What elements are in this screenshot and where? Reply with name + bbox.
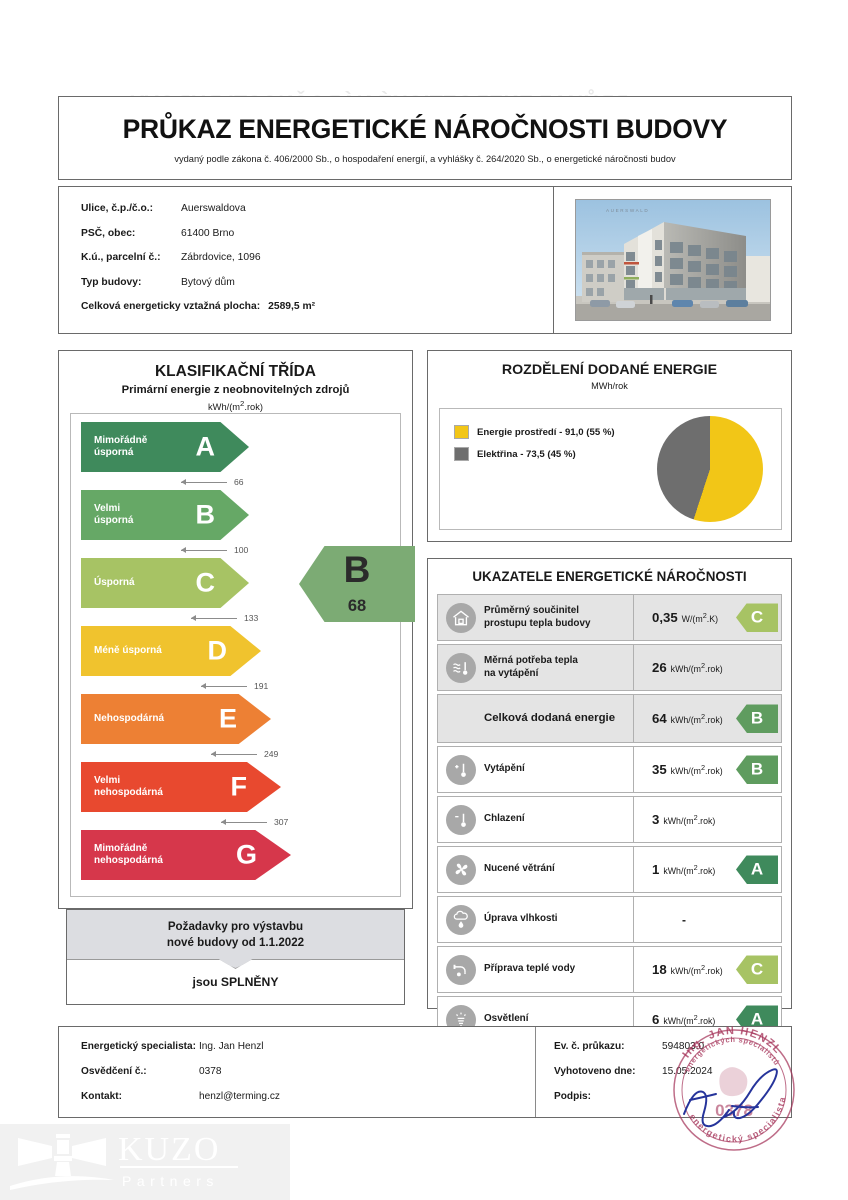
building-render-image: AUERSWALD [576,200,771,321]
indicator-row-cooling: Chlazení 3 kWh/(m2.rok) [437,796,782,843]
indicators-panel: UKAZATELE ENERGETICKÉ NÁROČNOSTI Průměrn… [427,558,792,1009]
legend-swatch [454,425,469,439]
building-photo: AUERSWALD [575,199,771,321]
house-icon [446,603,476,633]
field-value: 61400 Brno [181,228,234,239]
field-label: Ev. č. průkazu: [554,1041,662,1052]
indicator-row-humidity: Úprava vlhkosti - [437,896,782,943]
certificate-page: PRŮKAZ ENERGETICKÉ NÁROČNOSTI BUDOVY hry… [0,0,848,1200]
indicator-value: 6 [652,1012,659,1027]
identity-row-street: Ulice, č.p./č.o.: Auerswaldova [81,203,553,214]
field-value: 2589,5 m² [268,301,315,312]
classification-scale: Mimořádně úsporná A 66 Velmi úsporná B 1… [70,413,401,897]
indicator-row-heating: Vytápění 35 kWh/(m2.rok) B [437,746,782,793]
requirements-heading-line1: Požadavky pro výstavbu [168,919,303,935]
fan-icon [446,855,476,885]
classification-unit: kWh/(m2.rok) [59,399,412,412]
indicator-name: Celková dodaná energie [484,711,633,726]
indicator-value-cell: 18 kWh/(m2.rok) C [633,947,781,992]
indicator-row-heat-transfer: Průměrný součinitel prostupu tepla budov… [437,594,782,641]
document-subtitle: vydaný podle zákona č. 406/2000 Sb., o h… [59,154,791,164]
indicator-name: Průměrný součinitel prostupu tepla budov… [484,605,633,630]
requirements-heading-line2: nové budovy od 1.1.2022 [167,935,304,951]
marker-arrow-icon [201,686,247,687]
scale-band-e: Nehospodárná E [81,694,271,744]
indicator-badge: A [736,855,778,884]
identity-fields: Ulice, č.p./č.o.: Auerswaldova PSČ, obec… [59,187,553,333]
indicator-name: Nucené větrání [484,863,633,876]
field-label: Typ budovy: [81,277,181,288]
indicator-name: Příprava teplé vody [484,963,633,976]
indicator-row-total-energy: Celková dodaná energie 64 kWh/(m2.rok) B [437,694,782,743]
indicator-value-cell: 64 kWh/(m2.rok) B [633,695,781,742]
watermark-brand: KUZO [118,1131,220,1168]
footer-row-contact: Kontakt: henzl@terming.cz [81,1091,535,1102]
footer-row-registration-no: Ev. č. průkazu: 594803.0 [554,1041,791,1052]
indicator-name: Vytápění [484,763,633,776]
field-label: Ulice, č.p./č.o.: [81,203,181,214]
indicator-badge: B [736,755,778,784]
indicator-name: Osvětlení [484,1013,633,1026]
indicator-badge: C [736,603,778,632]
marker-arrow-icon [181,550,227,551]
indicators-title: UKAZATELE ENERGETICKÉ NÁROČNOSTI [428,569,791,584]
indicator-unit: kWh/(m2.rok) [671,712,723,725]
legend-item-electricity: Elektřina - 73,5 (45 %) [454,447,615,461]
indicator-value: 26 [652,660,667,675]
indicator-unit: kWh/(m2.rok) [671,963,723,976]
field-value: Bytový dům [181,277,235,288]
scale-marker-f: 307 [221,817,288,827]
indicator-value: 64 [652,711,667,726]
legend-swatch [454,447,469,461]
humidity-icon [446,905,476,935]
classification-result-badge: B 68 [299,546,415,622]
band-label: Méně úsporná [81,645,162,657]
photo-caption-text: AUERSWALD [606,208,649,213]
scale-marker-c: 133 [191,613,258,623]
marker-value: 307 [274,817,288,827]
scale-marker-e: 249 [211,749,278,759]
scale-band-d: Méně úsporná D [81,626,261,676]
band-letter: C [196,568,216,599]
indicator-icon-cell [438,855,484,885]
marker-value: 133 [244,613,258,623]
footer-specialist-fields: Energetický specialista: Ing. Jan Henzl … [59,1027,535,1117]
field-value: Auerswaldova [181,203,246,214]
watermark-tagline: Partners [122,1173,219,1189]
footer-row-signature: Podpis: [554,1091,791,1102]
field-label: Kontakt: [81,1091,199,1102]
band-letter: G [236,840,257,871]
indicator-unit: kWh/(m2.rok) [663,1013,715,1026]
indicator-icon-cell [438,653,484,683]
band-label: Mimořádně úsporná [81,435,147,459]
kuzo-watermark: KUZO Partners [0,1124,290,1200]
band-label: Velmi nehospodárná [81,775,163,799]
field-label: Vyhotoveno dne: [554,1066,662,1077]
indicator-unit: kWh/(m2.rok) [671,661,723,674]
footer-row-issue-date: Vyhotoveno dne: 15.05.2024 [554,1066,791,1077]
band-label: Nehospodárná [81,713,164,725]
indicator-name: Měrná potřeba tepla na vytápění [484,655,633,680]
indicator-value-cell: 26 kWh/(m2.rok) [633,645,781,690]
pie-title: ROZDĚLENÍ DODANÉ ENERGIE [428,362,791,378]
document-header: PRŮKAZ ENERGETICKÉ NÁROČNOSTI BUDOVY vyd… [58,96,792,180]
identity-row-building-type: Typ budovy: Bytový dům [81,277,553,288]
marker-arrow-icon [191,618,237,619]
indicator-value-cell: 0,35 W/(m2.K) C [633,595,781,640]
indicator-icon-cell [438,755,484,785]
band-label: Mimořádně nehospodárná [81,843,163,867]
band-letter: E [219,704,237,735]
scale-marker-b: 100 [181,545,248,555]
band-letter: D [208,636,228,667]
marker-value: 66 [234,477,244,487]
indicator-icon-cell [438,805,484,835]
footer-block: Energetický specialista: Ing. Jan Henzl … [58,1026,792,1118]
requirements-heading: Požadavky pro výstavbu nové budovy od 1.… [67,910,404,960]
requirements-result-text: jsou SPLNĚNY [192,975,278,989]
indicator-row-heat-demand: Měrná potřeba tepla na vytápění 26 kWh/(… [437,644,782,691]
watermark-background [0,1124,290,1200]
marker-arrow-icon [211,754,257,755]
indicator-value-cell: 3 kWh/(m2.rok) [633,797,781,842]
field-label: Podpis: [554,1091,662,1102]
indicator-unit: W/(m2.K) [682,611,718,624]
indicator-badge: C [736,955,778,984]
scale-band-b: Velmi úsporná B [81,490,249,540]
field-label: Osvědčení č.: [81,1066,199,1077]
footer-row-certificate-no: Osvědčení č.: 0378 [81,1066,535,1077]
field-label: Celková energeticky vztažná plocha: [81,301,260,312]
watermark-graphic: KUZO Partners [0,1124,290,1200]
legend-label: Elektřina - 73,5 (45 %) [477,449,576,460]
indicator-value: - [682,913,686,927]
identity-row-city: PSČ, obec: 61400 Brno [81,228,553,239]
indicator-value: 35 [652,762,667,777]
band-label: Úsporná [81,577,135,589]
identity-row-cadastre: K.ú., parcelní č.: Zábrdovice, 1096 [81,252,553,263]
indicator-value: 18 [652,962,667,977]
marker-arrow-icon [221,822,267,823]
identity-row-floor-area: Celková energeticky vztažná plocha: 2589… [81,301,553,312]
building-photo-cell: AUERSWALD [553,187,791,333]
indicator-value: 1 [652,862,659,877]
field-label: K.ú., parcelní č.: [81,252,181,263]
scale-marker-d: 191 [201,681,268,691]
classification-title: KLASIFIKAČNÍ TŘÍDA [59,363,412,381]
indicator-row-ventilation: Nucené větrání 1 kWh/(m2.rok) A [437,846,782,893]
marker-value: 100 [234,545,248,555]
field-value: 15.05.2024 [662,1066,713,1077]
indicator-value-cell: 35 kWh/(m2.rok) B [633,747,781,792]
scale-band-a: Mimořádně úsporná A [81,422,249,472]
field-label: PSČ, obec: [81,228,181,239]
field-value: Zábrdovice, 1096 [181,252,261,263]
classification-panel: KLASIFIKAČNÍ TŘÍDA Primární energie z ne… [58,350,413,909]
legend-label: Energie prostředí - 91,0 (55 %) [477,427,615,438]
indicator-icon-cell [438,905,484,935]
lighthouse-icon [10,1134,114,1190]
field-value: henzl@terming.cz [199,1091,280,1102]
pie-chart [657,416,763,522]
footer-registration-fields: Ev. č. průkazu: 594803.0 Vyhotoveno dne:… [535,1027,791,1117]
field-label: Energetický specialista: [81,1041,199,1052]
indicator-badge: B [736,704,778,733]
indicator-icon-cell [438,955,484,985]
marker-arrow-icon [181,482,227,483]
marker-value: 249 [264,749,278,759]
pie-legend: Energie prostředí - 91,0 (55 %) Elektřin… [454,425,615,469]
indicator-value-cell: 1 kWh/(m2.rok) A [633,847,781,892]
building-identity-block: Ulice, č.p./č.o.: Auerswaldova PSČ, obec… [58,186,792,334]
scale-band-c: Úsporná C [81,558,249,608]
scale-marker-a: 66 [181,477,244,487]
heat-loss-icon [446,653,476,683]
indicator-value: 3 [652,812,659,827]
indicator-name: Chlazení [484,813,633,826]
indicators-list: Průměrný součinitel prostupu tepla budov… [437,594,782,1046]
faucet-icon [446,955,476,985]
result-value: 68 [299,597,415,616]
indicator-unit: kWh/(m2.rok) [671,763,723,776]
classification-subtitle: Primární energie z neobnovitelných zdroj… [59,384,412,396]
result-letter: B [299,552,415,587]
footer-row-specialist: Energetický specialista: Ing. Jan Henzl [81,1041,535,1052]
indicator-name: Úprava vlhkosti [484,913,633,926]
band-letter: A [196,432,216,463]
field-value: Ing. Jan Henzl [199,1041,264,1052]
pie-chart-frame: Energie prostředí - 91,0 (55 %) Elektřin… [439,408,782,530]
indicator-unit: kWh/(m2.rok) [663,863,715,876]
scale-band-f: Velmi nehospodárná F [81,762,281,812]
heating-icon [446,755,476,785]
legend-item-environment: Energie prostředí - 91,0 (55 %) [454,425,615,439]
scale-band-g: Mimořádně nehospodárná G [81,830,291,880]
field-value: 594803.0 [662,1041,704,1052]
requirements-panel: Požadavky pro výstavbu nové budovy od 1.… [66,909,405,1005]
indicator-unit: kWh/(m2.rok) [663,813,715,826]
page-title: PRŮKAZ ENERGETICKÉ NÁROČNOSTI BUDOVY [59,114,791,145]
cooling-icon [446,805,476,835]
indicator-value: 0,35 [652,610,678,625]
indicator-icon-cell [438,603,484,633]
indicator-row-hot-water: Příprava teplé vody 18 kWh/(m2.rok) C [437,946,782,993]
field-value: 0378 [199,1066,221,1077]
marker-value: 191 [254,681,268,691]
indicator-value-cell: - [633,897,781,942]
band-letter: B [196,500,216,531]
band-letter: F [231,772,248,803]
band-label: Velmi úsporná [81,503,133,527]
pie-unit: MWh/rok [428,381,791,391]
energy-distribution-panel: ROZDĚLENÍ DODANÉ ENERGIE MWh/rok Energie… [427,350,792,542]
